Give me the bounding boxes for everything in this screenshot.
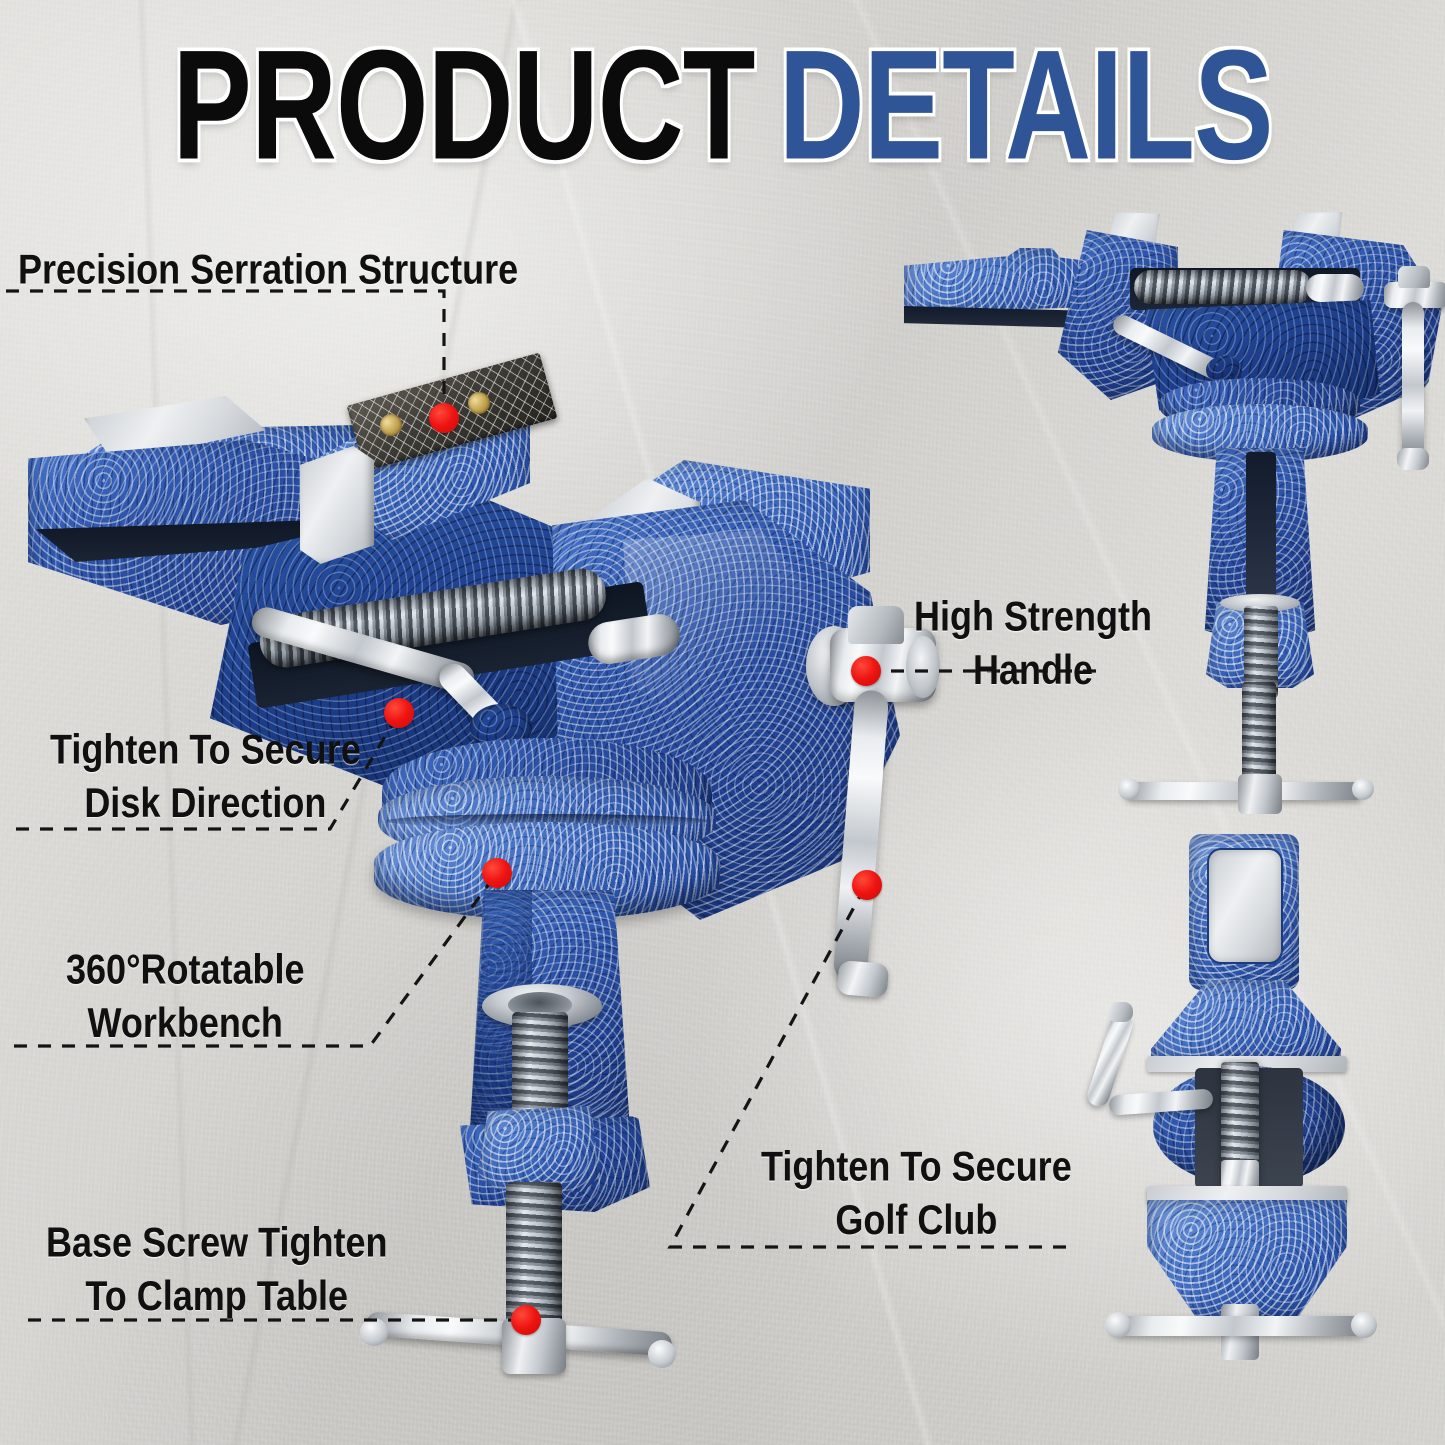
callout-line: Tighten To Secure bbox=[50, 723, 361, 776]
callout-line: Base Screw Tighten bbox=[46, 1216, 387, 1269]
front-view-inset-vise bbox=[1085, 830, 1445, 1430]
title-word-product: PRODUCT bbox=[172, 18, 754, 192]
side-detached-handle-cap bbox=[1398, 266, 1430, 288]
callout-line: To Clamp Table bbox=[46, 1269, 387, 1322]
callout-tighten-to-secure-disk-direction: Tighten To Secure Disk Direction bbox=[50, 723, 361, 830]
callout-line: Handle bbox=[914, 643, 1152, 696]
marker-dot-swivel-base bbox=[482, 858, 512, 888]
front-crank-lever-knob bbox=[1107, 1002, 1133, 1022]
callout-high-strength-handle: High Strength Handle bbox=[914, 590, 1152, 697]
side-clamp-throat-gap bbox=[1246, 452, 1276, 602]
marker-dot-serration bbox=[429, 403, 459, 433]
side-detached-handle-rod bbox=[1402, 302, 1424, 462]
side-clamp-t-bar-end-right bbox=[1352, 778, 1374, 800]
callout-line: Tighten To Secure bbox=[761, 1140, 1072, 1193]
front-lower-cone bbox=[1147, 1200, 1347, 1316]
callout-line: Workbench bbox=[66, 996, 304, 1049]
callout-360-rotatable-workbench: 360°Rotatable Workbench bbox=[66, 943, 304, 1050]
callout-base-screw-tighten-to-clamp-table: Base Screw Tighten To Clamp Table bbox=[46, 1216, 387, 1323]
front-bottom-t-bar-end-right bbox=[1351, 1312, 1377, 1338]
side-detached-handle-end-cap bbox=[1397, 448, 1429, 470]
side-lead-screw-thread bbox=[1134, 270, 1312, 304]
marker-dot-handle-rod bbox=[852, 870, 882, 900]
side-clamp-t-bar-end-left bbox=[1118, 778, 1140, 800]
jaw-inner-steel-block bbox=[300, 446, 374, 564]
front-upper-flare bbox=[1151, 980, 1341, 1062]
main-handle-rod-end-cap bbox=[837, 960, 890, 998]
front-bracket-window bbox=[1207, 848, 1283, 964]
marker-dot-disk-direction bbox=[384, 698, 414, 728]
side-clamp-screw-collar bbox=[1238, 774, 1282, 814]
clamp-nut bbox=[478, 1106, 600, 1192]
page-title: PRODUCTDETAILS bbox=[51, 28, 1395, 184]
front-bottom-t-bar-end-left bbox=[1105, 1312, 1131, 1338]
marker-dot-clamp-screw bbox=[511, 1305, 541, 1335]
clamp-pad-screw-shaft bbox=[512, 1012, 568, 1124]
title-word-details: DETAILS bbox=[779, 18, 1273, 192]
marker-dot-handle-collar bbox=[851, 656, 881, 686]
side-lead-screw-shank bbox=[1306, 274, 1364, 302]
callout-line: Golf Club bbox=[761, 1193, 1072, 1246]
clamp-t-bar-end-right bbox=[648, 1340, 676, 1368]
front-bottom-t-bar bbox=[1111, 1316, 1367, 1336]
callout-line: High Strength bbox=[914, 590, 1152, 643]
callout-line: Precision Serration Structure bbox=[18, 243, 518, 296]
product-details-infographic: PRODUCTDETAILS bbox=[0, 0, 1445, 1445]
side-slide-bar-underside bbox=[904, 306, 1090, 328]
callout-precision-serration-structure: Precision Serration Structure bbox=[18, 243, 518, 296]
callout-line: 360°Rotatable bbox=[66, 943, 304, 996]
callout-tighten-to-secure-golf-club: Tighten To Secure Golf Club bbox=[761, 1140, 1072, 1247]
callout-line: Disk Direction bbox=[50, 776, 361, 829]
